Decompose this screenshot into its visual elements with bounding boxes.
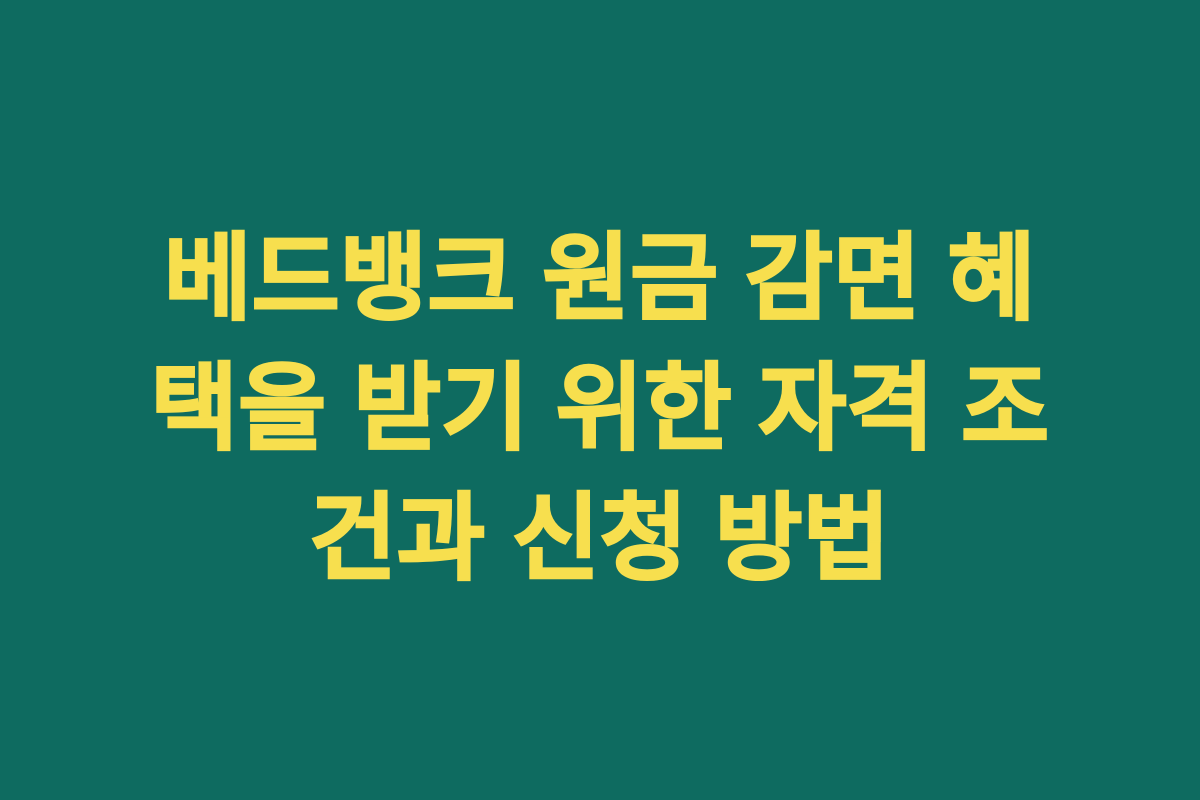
headline-line-3: 건과 신청 방법: [120, 474, 1080, 604]
headline-line-1: 베드뱅크 원금 감면 혜: [120, 214, 1080, 344]
headline-line-2: 택을 받기 위한 자격 조: [120, 344, 1080, 474]
banner-canvas: 베드뱅크 원금 감면 혜 택을 받기 위한 자격 조 건과 신청 방법: [0, 0, 1200, 800]
headline-block: 베드뱅크 원금 감면 혜 택을 받기 위한 자격 조 건과 신청 방법: [120, 214, 1080, 604]
